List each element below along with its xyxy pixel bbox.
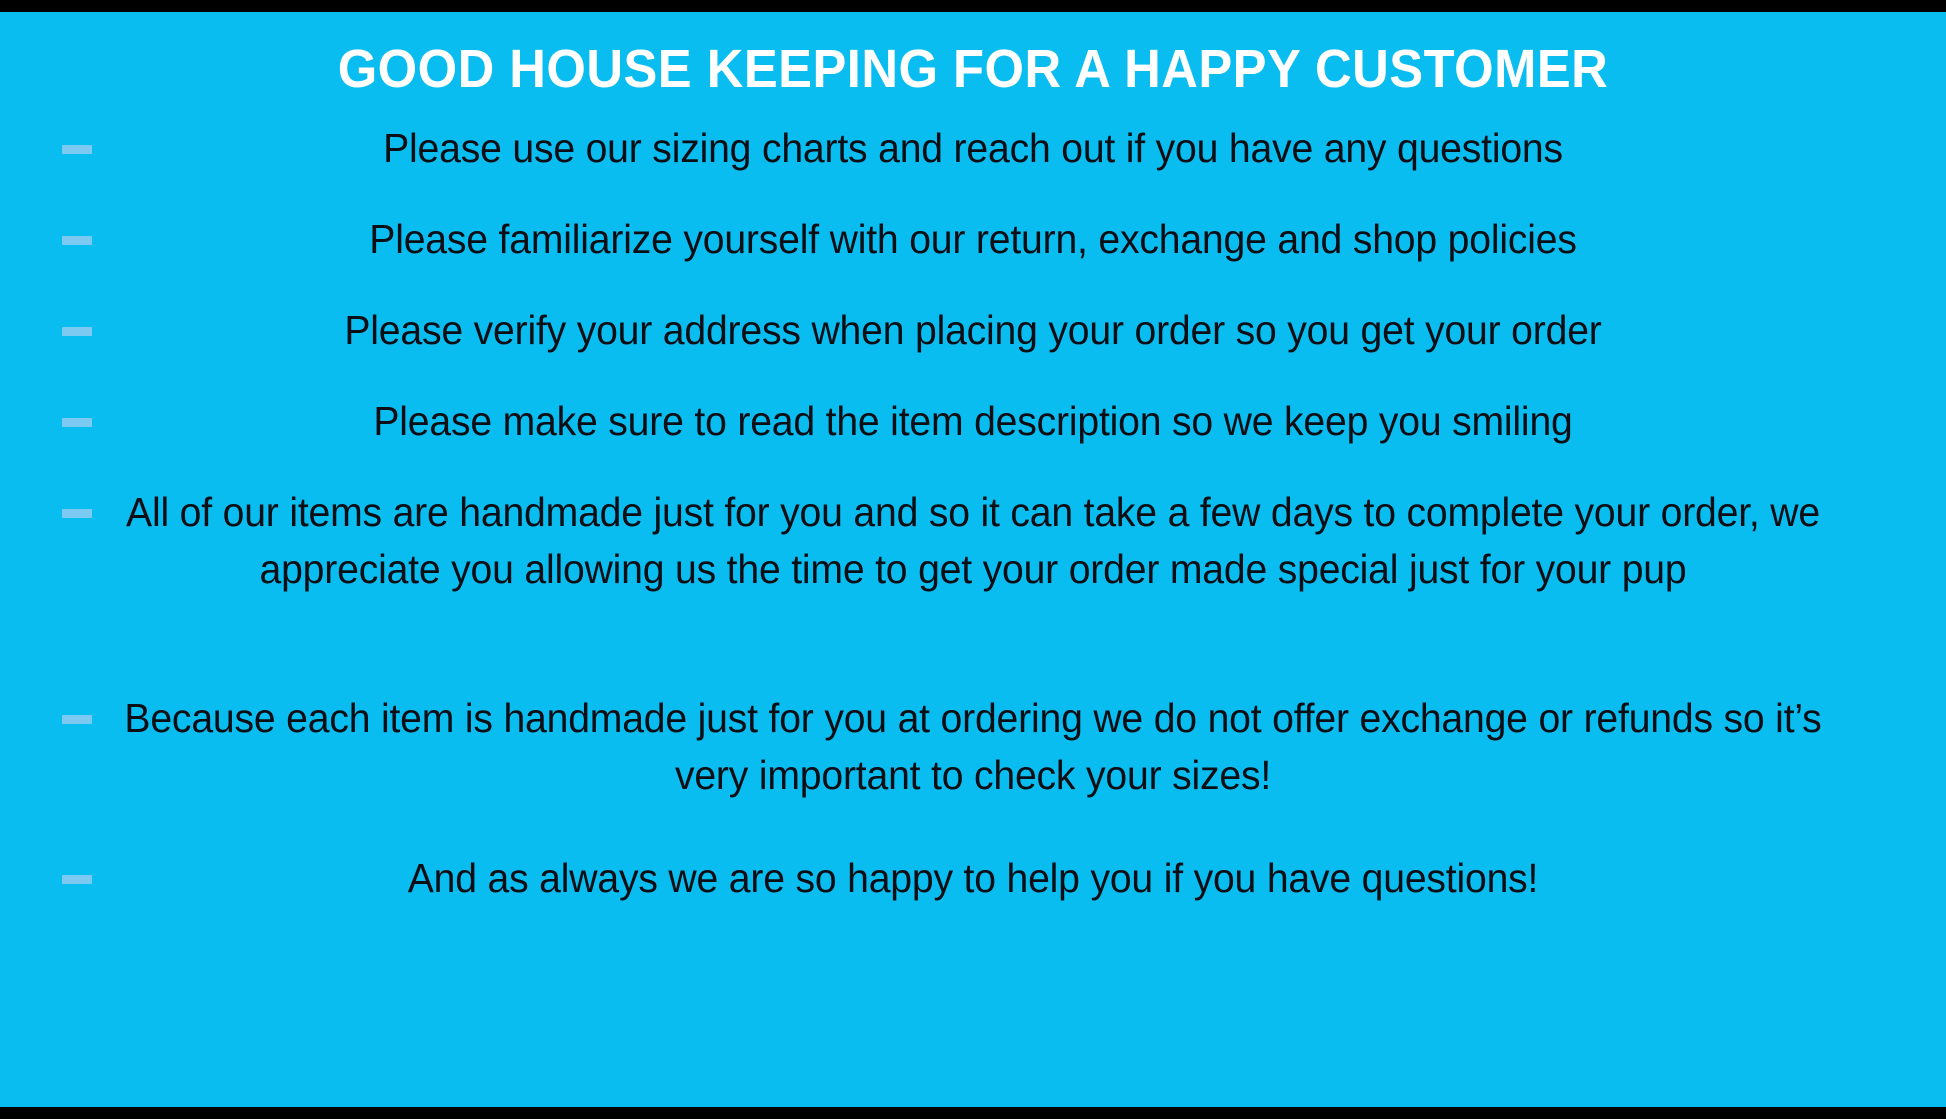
dash-icon <box>62 145 92 154</box>
page-title: GOOD HOUSE KEEPING FOR A HAPPY CUSTOMER <box>58 38 1887 100</box>
dash-icon <box>62 715 92 724</box>
dash-icon <box>62 509 92 518</box>
slide-root: GOOD HOUSE KEEPING FOR A HAPPY CUSTOMER … <box>0 0 1946 1119</box>
letterbox-bottom <box>0 1107 1946 1119</box>
dash-icon <box>62 236 92 245</box>
list-item-text: And as always we are so happy to help yo… <box>114 842 1833 907</box>
list-item-text: Please familiarize yourself with our ret… <box>114 203 1833 268</box>
dash-icon <box>62 875 92 884</box>
list-item: All of our items are handmade just for y… <box>0 476 1946 682</box>
list-item-text: Please use our sizing charts and reach o… <box>114 112 1833 177</box>
dash-icon <box>62 418 92 427</box>
list-item: Please use our sizing charts and reach o… <box>0 112 1946 203</box>
list-item-text: Please verify your address when placing … <box>114 294 1833 359</box>
dash-icon <box>62 327 92 336</box>
list-item: Please familiarize yourself with our ret… <box>0 203 1946 294</box>
list-item: And as always we are so happy to help yo… <box>0 842 1946 933</box>
bullet-list: Please use our sizing charts and reach o… <box>0 112 1946 933</box>
list-item: Because each item is handmade just for y… <box>0 682 1946 842</box>
list-item-text: All of our items are handmade just for y… <box>114 476 1833 598</box>
list-item-text: Because each item is handmade just for y… <box>114 682 1833 804</box>
list-item-text: Please make sure to read the item descri… <box>114 385 1833 450</box>
list-item: Please make sure to read the item descri… <box>0 385 1946 476</box>
letterbox-top <box>0 0 1946 12</box>
slide-canvas: GOOD HOUSE KEEPING FOR A HAPPY CUSTOMER … <box>0 12 1946 1107</box>
list-item: Please verify your address when placing … <box>0 294 1946 385</box>
